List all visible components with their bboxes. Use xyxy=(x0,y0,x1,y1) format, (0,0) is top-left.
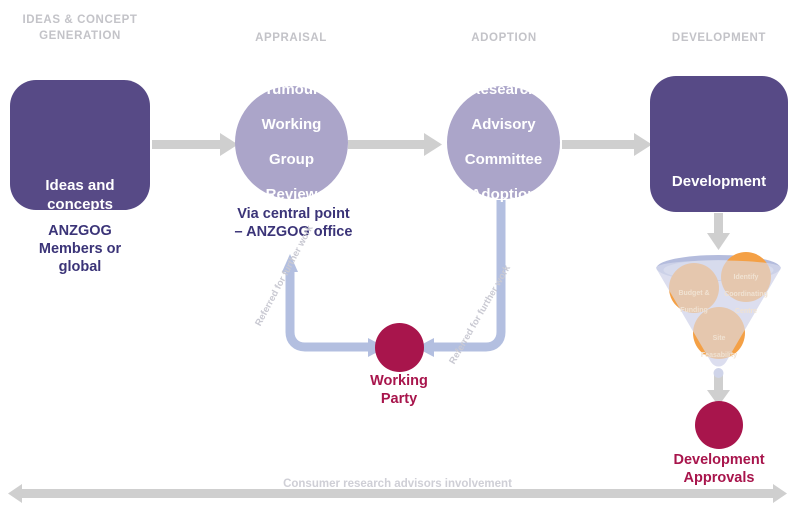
caption-central-line2: – ANZGOG office xyxy=(206,223,381,241)
arrow-rac-to-development xyxy=(562,133,652,156)
node-development[interactable]: Development xyxy=(650,76,788,212)
twg-label-line2: Working xyxy=(262,116,322,134)
stage-label-appraisal: APPRAISAL xyxy=(222,30,360,46)
arrow-ideas-to-twg xyxy=(152,133,238,156)
ideas-box-label-line2: concepts xyxy=(45,195,114,214)
caption-anzgog-line2: Members or xyxy=(10,240,150,258)
arrow-development-to-funnel xyxy=(707,213,730,250)
stage-label-ideas-line2: GENERATION xyxy=(0,28,160,44)
arrow-twg-to-rac xyxy=(348,133,442,156)
rac-label-line1: Research xyxy=(465,81,543,99)
rac-label-line4: Adoption xyxy=(465,186,543,204)
stage-label-ideas-line1: IDEAS & CONCEPT xyxy=(0,12,160,28)
caption-anzgog-line3: global xyxy=(10,258,150,276)
node-tumour-working-group-review[interactable]: Tumour Working Group Review xyxy=(235,86,348,199)
diagram-canvas: IDEAS & CONCEPT GENERATION APPRAISAL ADO… xyxy=(0,0,795,530)
label-consumer-research-advisors-involvement: Consumer research advisors involvement xyxy=(0,478,795,490)
caption-working-party-line1: Working xyxy=(339,372,459,390)
twg-label-line1: Tumour xyxy=(262,81,322,99)
twg-label: Tumour Working Group Review xyxy=(262,81,322,204)
arrow-referred-right xyxy=(416,200,501,357)
stage-label-adoption: ADOPTION xyxy=(435,30,573,46)
development-box-label: Development xyxy=(672,172,766,191)
node-research-advisory-committee-adoption[interactable]: Research Advisory Committee Adoption xyxy=(447,86,560,199)
node-ideas-and-concepts[interactable]: Ideas and concepts xyxy=(10,80,150,210)
caption-central-line1: Via central point xyxy=(206,205,381,223)
rac-label-line3: Committee xyxy=(465,151,543,169)
ideas-box-label-line1: Ideas and xyxy=(45,176,114,195)
twg-label-line4: Review xyxy=(262,186,322,204)
twg-label-line3: Group xyxy=(262,151,322,169)
node-development-approvals[interactable] xyxy=(695,401,743,449)
caption-anzgog-line1: ANZGOG xyxy=(10,222,150,240)
node-working-party[interactable] xyxy=(375,323,424,372)
arrow-referred-left xyxy=(282,254,386,357)
rac-label-line2: Advisory xyxy=(465,116,543,134)
stage-label-ideas: IDEAS & CONCEPT GENERATION xyxy=(0,12,160,44)
development-funnel xyxy=(656,252,781,378)
rac-label: Research Advisory Committee Adoption xyxy=(465,81,543,204)
caption-anzgog-members: ANZGOG Members or global xyxy=(10,222,150,276)
caption-approvals-line1: Development xyxy=(650,451,788,469)
caption-working-party-line2: Party xyxy=(339,390,459,408)
stage-label-development: DEVELOPMENT xyxy=(648,30,790,46)
caption-working-party: Working Party xyxy=(339,372,459,408)
caption-via-central-point: Via central point – ANZGOG office xyxy=(206,205,381,241)
